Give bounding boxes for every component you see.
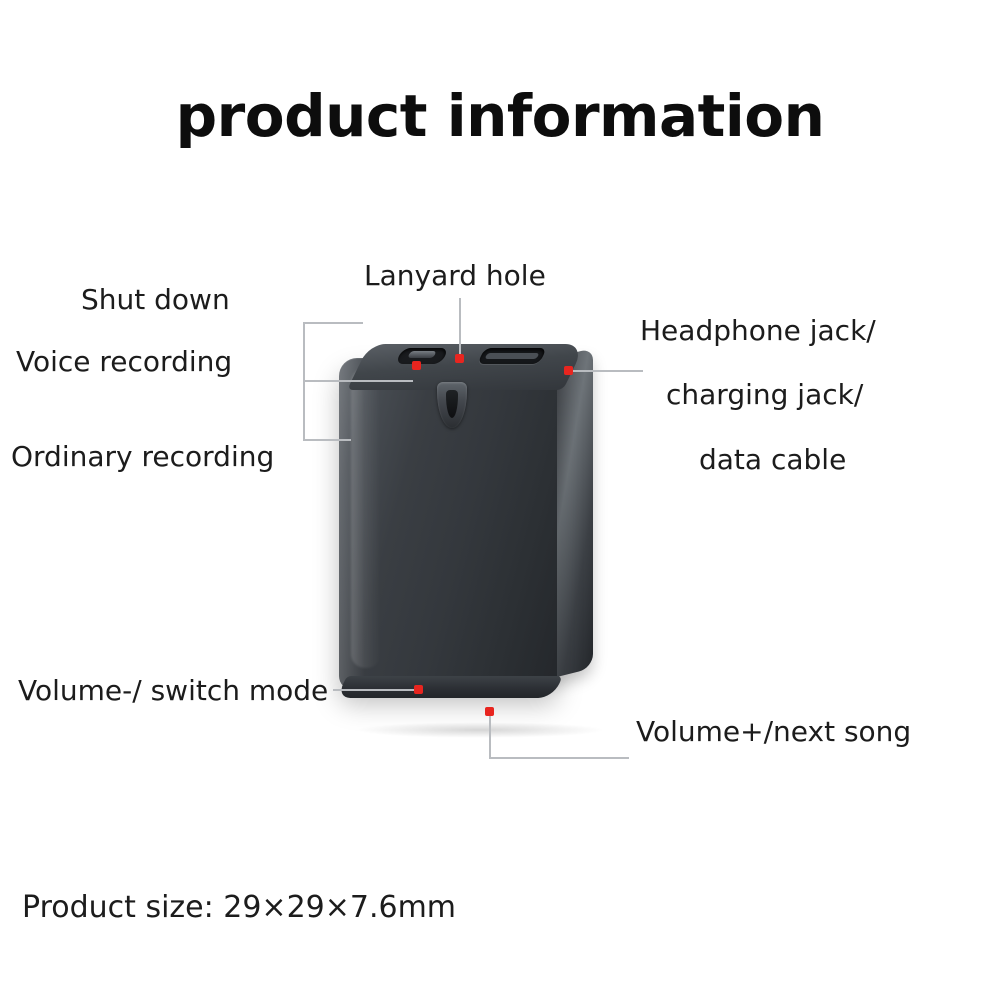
- indicator-dot-shut-down: [412, 361, 421, 370]
- leader-line-volume-up-horizontal: [489, 757, 629, 759]
- leader-line-volume-up-vertical: [489, 711, 491, 758]
- leader-line-shut-down: [303, 322, 363, 324]
- callout-label-volume-up: Volume+/next song: [636, 715, 911, 749]
- leader-line-headphone-jack: [568, 370, 643, 372]
- product-highlight: [351, 368, 381, 668]
- indicator-dot-volume-up: [485, 707, 494, 716]
- page-title: product information: [0, 82, 1000, 150]
- callout-label-shut-down: Shut down: [81, 283, 230, 317]
- product-size-text: Product size: 29×29×7.6mm: [22, 890, 456, 925]
- callout-label-ordinary-recording: Ordinary recording: [11, 440, 274, 474]
- indicator-dot-volume-down: [414, 685, 423, 694]
- diagram-canvas: product information Lanyard hole Shut do…: [0, 0, 1000, 1000]
- headphone-charging-port: [477, 348, 547, 364]
- callout-label-lanyard-hole: Lanyard hole: [364, 259, 546, 293]
- callout-label-headphone-jack: Headphone jack/: [640, 314, 876, 348]
- leader-line-ordinary-recording: [303, 439, 351, 441]
- product-image: [333, 338, 633, 728]
- product-top-face: [347, 344, 585, 390]
- callout-label-volume-down: Volume-/ switch mode: [18, 674, 328, 708]
- callout-label-voice-recording: Voice recording: [16, 345, 232, 379]
- callout-label-charging-jack: charging jack/: [666, 378, 863, 412]
- indicator-dot-lanyard-hole: [455, 354, 464, 363]
- indicator-dot-headphone-jack: [564, 366, 573, 375]
- lanyard-hole-bridge: [407, 351, 436, 358]
- product-bottom-face: [336, 676, 563, 698]
- leader-line-voice-recording: [303, 380, 413, 382]
- leader-line-volume-down: [333, 689, 419, 691]
- leader-line-lanyard-hole: [459, 298, 461, 358]
- callout-label-data-cable: data cable: [699, 443, 846, 477]
